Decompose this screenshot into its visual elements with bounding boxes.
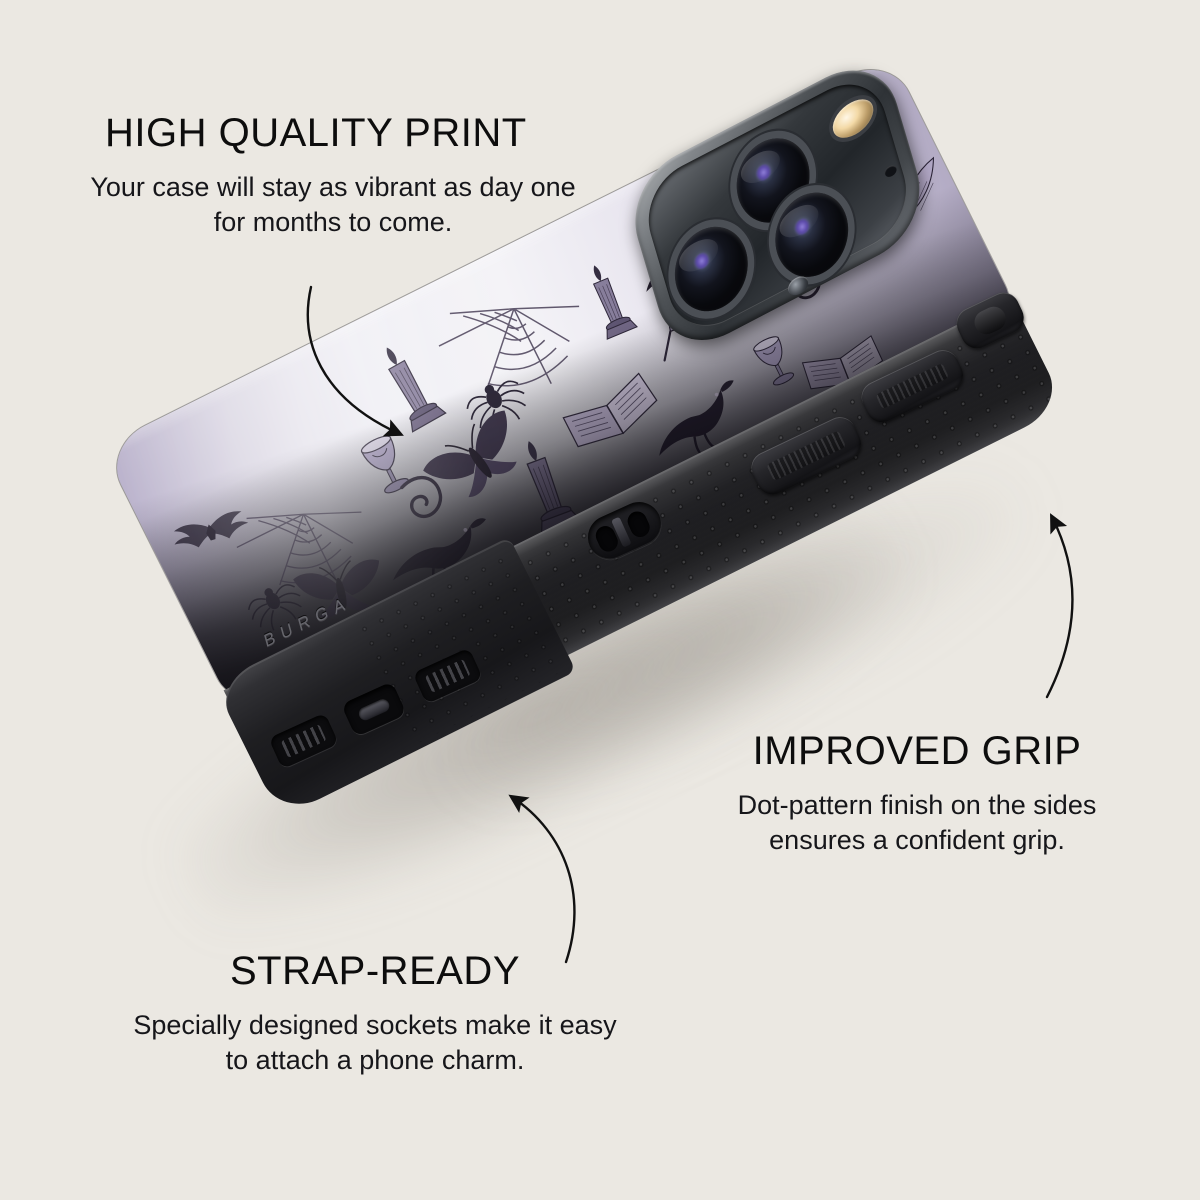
volume-up-button bbox=[856, 345, 968, 428]
lidar-sensor-icon bbox=[786, 273, 810, 299]
camera-plate bbox=[637, 67, 917, 343]
callout-body: Specially designed sockets make it easy … bbox=[125, 1008, 625, 1078]
callout-high-quality-print: HIGH QUALITY PRINT Your case will stay a… bbox=[105, 112, 583, 240]
callout-title: STRAP-READY bbox=[125, 950, 625, 992]
strap-socket-hole-right bbox=[625, 508, 653, 540]
case-bottom-edge bbox=[214, 537, 576, 818]
case-side-rail bbox=[224, 298, 1066, 800]
callout-improved-grip: IMPROVED GRIP Dot-pattern finish on the … bbox=[697, 730, 1137, 858]
strap-socket-hole-left bbox=[593, 523, 621, 555]
button-ridges bbox=[971, 303, 1010, 338]
drop-shadow bbox=[148, 459, 932, 972]
camera-lens-wide bbox=[727, 124, 819, 236]
callout-body: Your case will stay as vibrant as day on… bbox=[83, 170, 583, 240]
dot-pattern-grip bbox=[500, 312, 1054, 657]
button-ridges bbox=[766, 430, 846, 481]
callout-body: Dot-pattern finish on the sides ensures … bbox=[697, 788, 1137, 858]
button-ridges bbox=[875, 362, 950, 409]
camera-module bbox=[622, 49, 934, 362]
callout-title: IMPROVED GRIP bbox=[697, 730, 1137, 772]
rail-sheen bbox=[224, 298, 1066, 800]
brand-mark: BURGA bbox=[262, 591, 353, 652]
camera-flash-icon bbox=[828, 91, 879, 145]
speaker-grille-left bbox=[268, 713, 339, 770]
arrow-improved-grip bbox=[1047, 517, 1072, 697]
bottom-edge-dots bbox=[353, 547, 572, 746]
arrow-strap-ready bbox=[512, 797, 574, 962]
volume-down-button bbox=[746, 412, 866, 500]
strap-charm-socket bbox=[581, 495, 668, 567]
microphone-icon bbox=[883, 163, 897, 179]
callout-title: HIGH QUALITY PRINT bbox=[105, 112, 583, 154]
speaker-grille-right bbox=[412, 648, 483, 705]
action-button bbox=[951, 287, 1029, 353]
camera-lens-ultrawide bbox=[665, 213, 757, 325]
callout-strap-ready: STRAP-READY Specially designed sockets m… bbox=[125, 950, 625, 1078]
arrow-high-quality-print bbox=[308, 287, 400, 434]
usb-c-port-cutout bbox=[341, 681, 407, 737]
camera-lens-telephoto bbox=[766, 179, 858, 291]
strap-socket-bar bbox=[611, 517, 632, 548]
